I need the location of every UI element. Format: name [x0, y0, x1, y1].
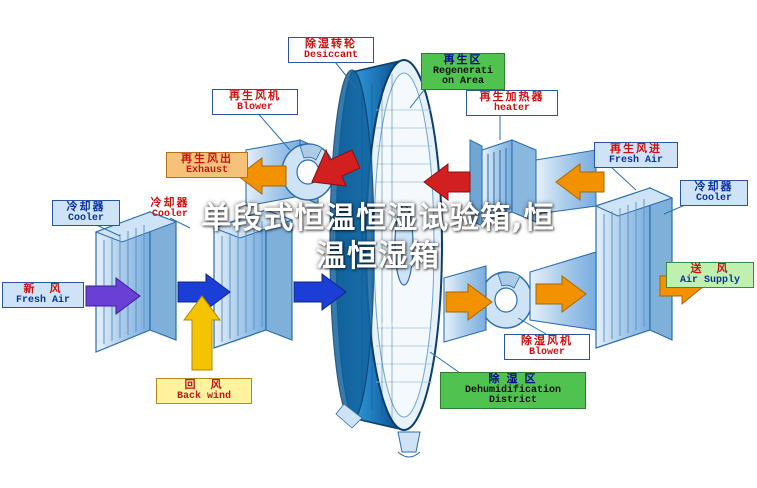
- overlay-title-line1: 单段式恒温恒湿试验箱,恒: [108, 200, 648, 238]
- watermark: XY: [378, 318, 395, 333]
- label-regeneration-area: 再生区 Regenerati on Area: [421, 53, 505, 90]
- label-dehumidification-district: 除 湿 区 Dehumidification District: [440, 372, 586, 409]
- diagram-canvas: 除湿转轮 Desiccant 再生区 Regenerati on Area 再生…: [0, 0, 757, 488]
- overlay-title-line2: 温恒湿箱: [108, 238, 648, 276]
- label-fresh-air-left: 新 风 Fresh Air: [2, 282, 84, 308]
- label-cooler-right: 冷却器 Cooler: [680, 180, 748, 206]
- overlay-title: 单段式恒温恒湿试验箱,恒 温恒湿箱: [108, 200, 648, 275]
- label-regeneration-heater: 再生加热器 heater: [466, 90, 558, 116]
- label-exhaust: 再生风出 Exhaust: [166, 152, 248, 178]
- label-regeneration-blower: 再生风机 Blower: [212, 89, 298, 115]
- label-air-supply: 送 风 Air Supply: [666, 262, 754, 288]
- label-back-wind: 回 风 Back wind: [156, 378, 252, 404]
- label-dehumidification-blower: 除湿风机 Blower: [504, 334, 590, 360]
- label-desiccant-wheel: 除湿转轮 Desiccant: [288, 37, 374, 63]
- label-regeneration-fresh-air: 再生风进 Fresh Air: [594, 142, 678, 168]
